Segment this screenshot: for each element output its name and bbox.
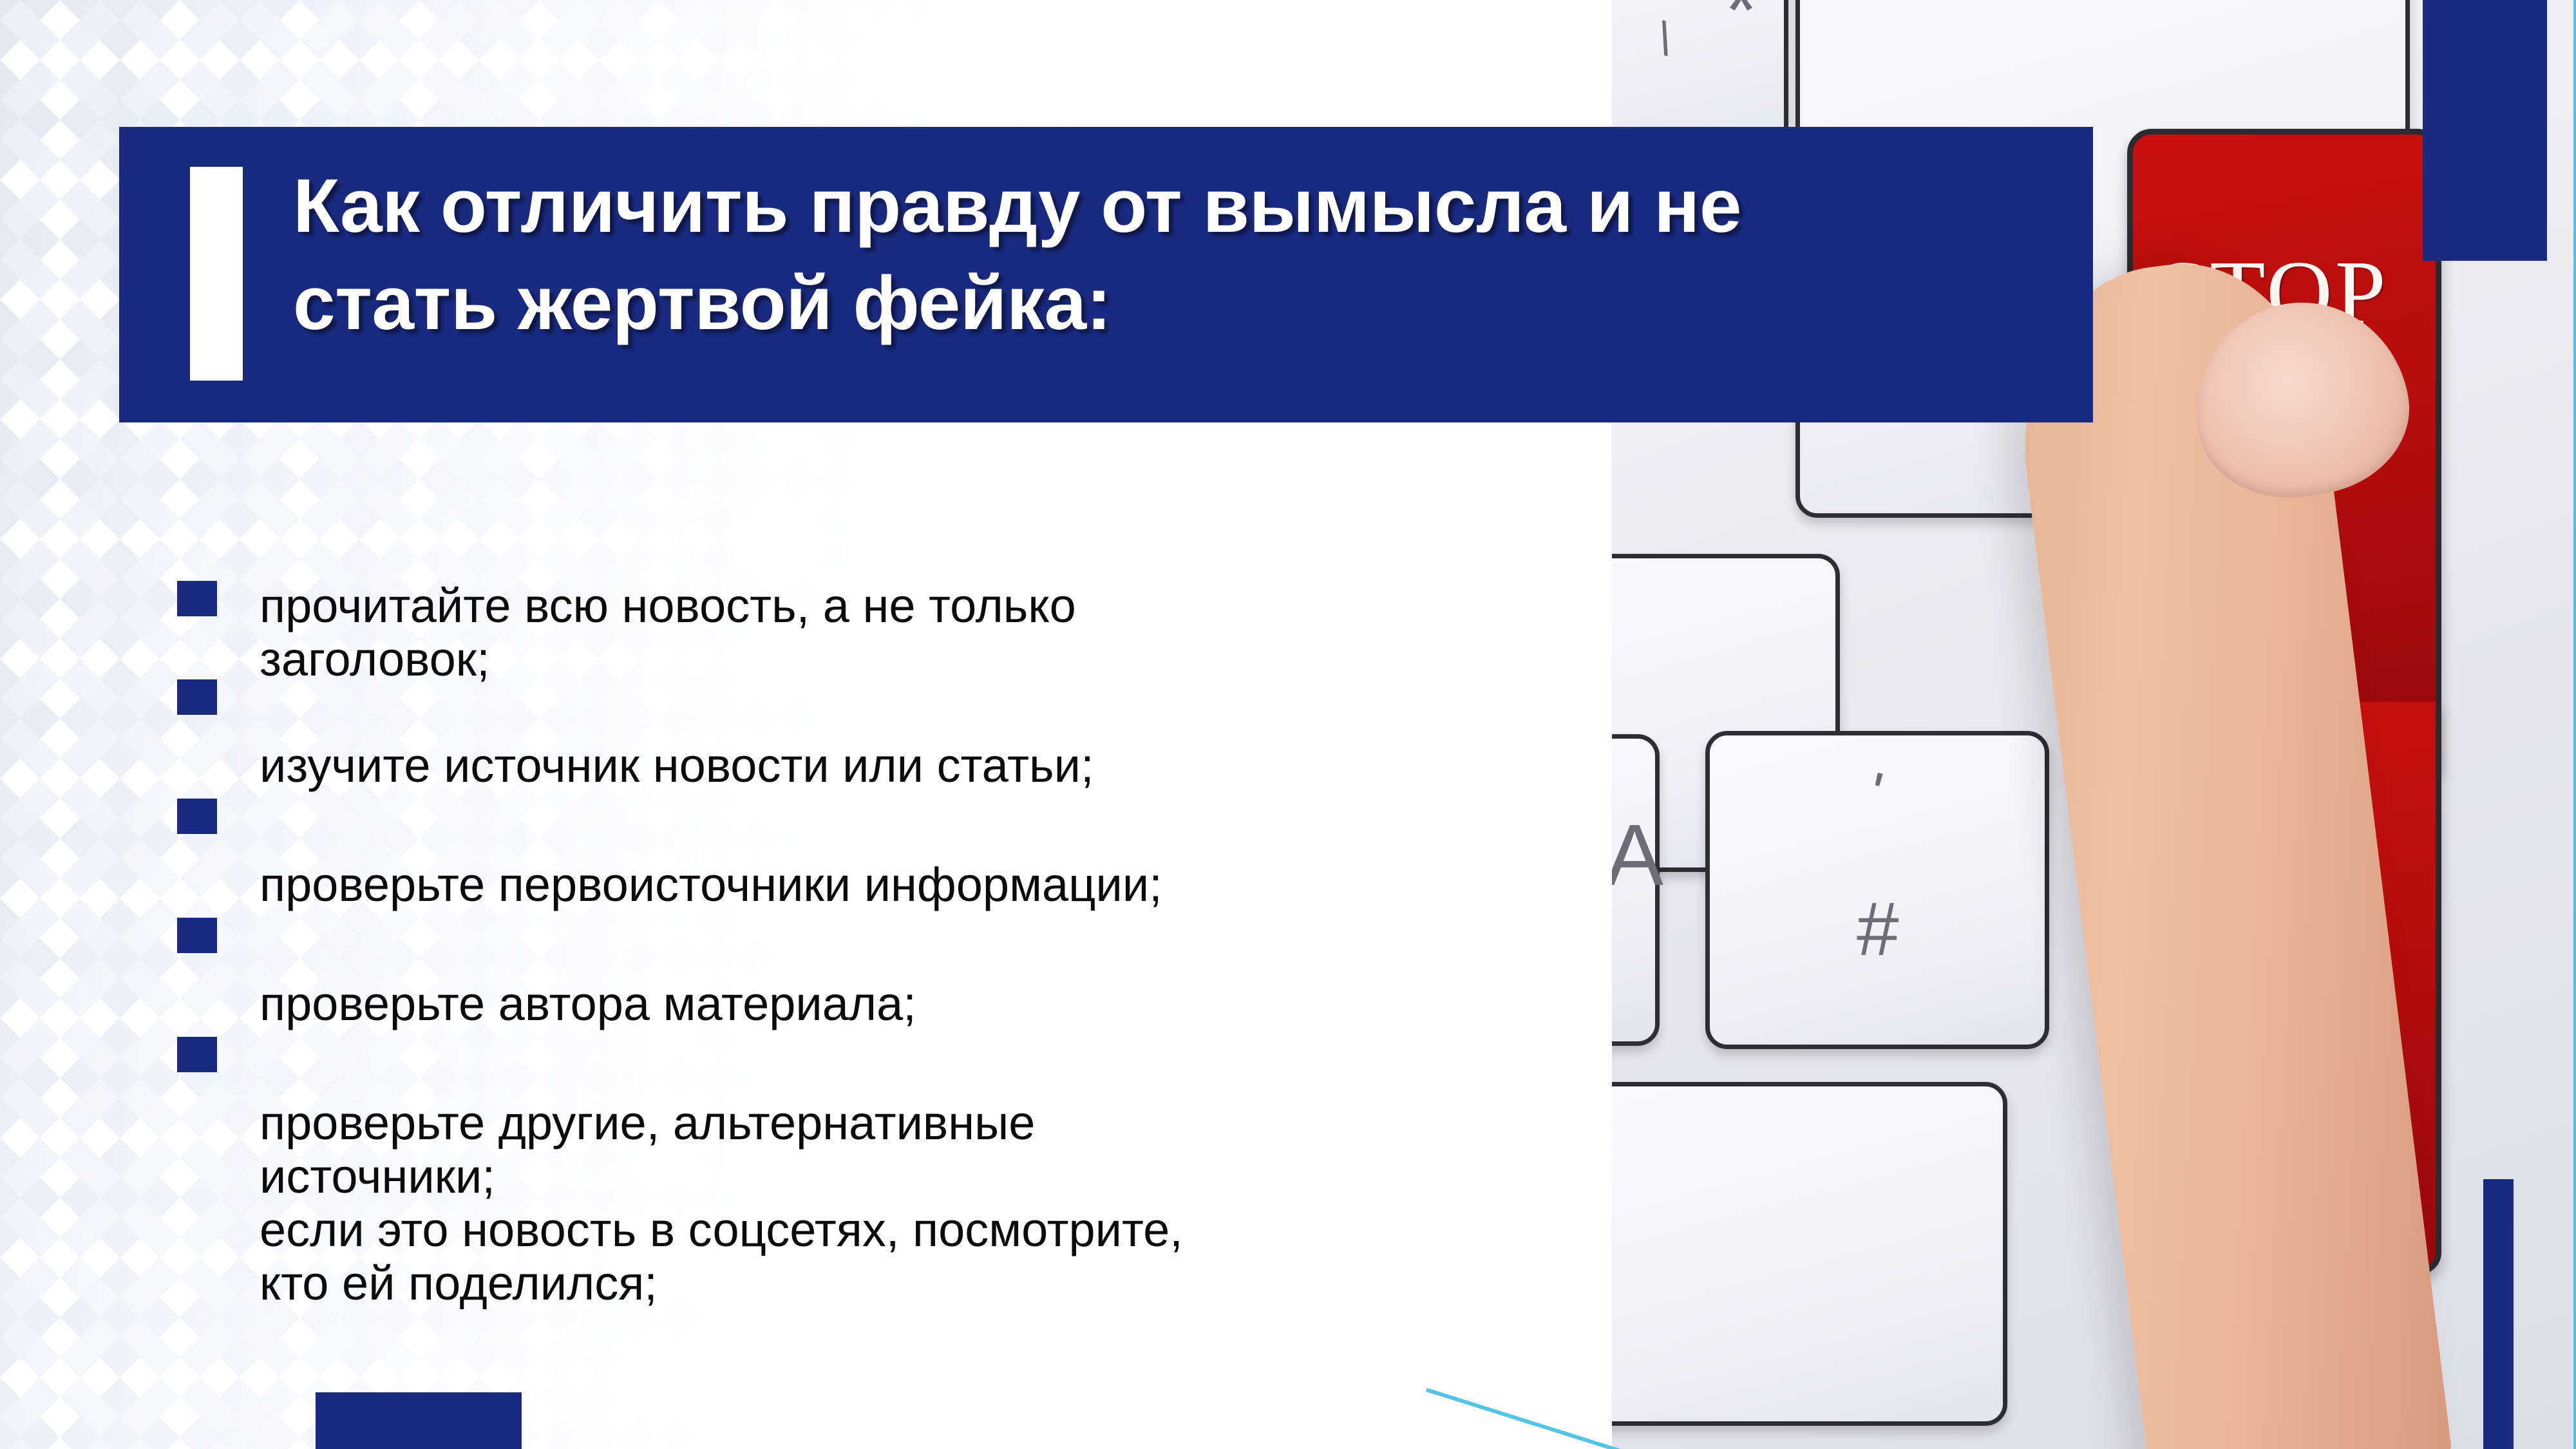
- title-banner: Как отличить правду от вымысла и не стат…: [119, 127, 2093, 422]
- bullet-square-icon: [177, 679, 217, 715]
- list-item: проверьте первоисточники информации;: [177, 808, 1581, 927]
- page-title: Как отличить правду от вымысла и не стат…: [293, 158, 1955, 352]
- bullet-square-icon: [177, 799, 217, 834]
- bullet-square-icon: [177, 1037, 217, 1072]
- list-item: прочитайте всю новость, а не только заго…: [177, 580, 1581, 689]
- key-label-asterisk: *: [1725, 0, 1757, 59]
- slide-root: \ ← * + A ' # STOP Как отличить правду о…: [0, 0, 2576, 1449]
- decor-right-edge-line: [2573, 0, 2576, 1449]
- bullet-text: изучите источник новости или статьи;: [260, 689, 1581, 793]
- list-item: проверьте автора материала;: [177, 927, 1581, 1046]
- bullet-text: проверьте другие, альтернативные источни…: [260, 1046, 1581, 1311]
- keyboard-key-blank-bottom: [1612, 1082, 2007, 1426]
- list-item: изучите источник новости или статьи;: [177, 689, 1581, 808]
- list-item: проверьте другие, альтернативные источни…: [177, 1046, 1581, 1317]
- bullet-text: прочитайте всю новость, а не только заго…: [260, 580, 1581, 687]
- bullet-square-icon: [177, 918, 217, 953]
- key-label-hash: #: [1857, 885, 1899, 973]
- key-label-a: A: [1612, 805, 1663, 905]
- bullet-square-icon-partial: [316, 1392, 522, 1449]
- bullet-text: проверьте первоисточники информации;: [260, 808, 1581, 912]
- bullet-square-icon: [177, 581, 217, 616]
- title-accent-bar: [190, 167, 243, 381]
- bullet-text: проверьте автора материала;: [260, 927, 1581, 1031]
- decor-bar-top-right: [2423, 0, 2547, 261]
- decor-bar-bottom-right: [2483, 1179, 2514, 1449]
- bullet-list: прочитайте всю новость, а не только заго…: [177, 580, 1581, 1317]
